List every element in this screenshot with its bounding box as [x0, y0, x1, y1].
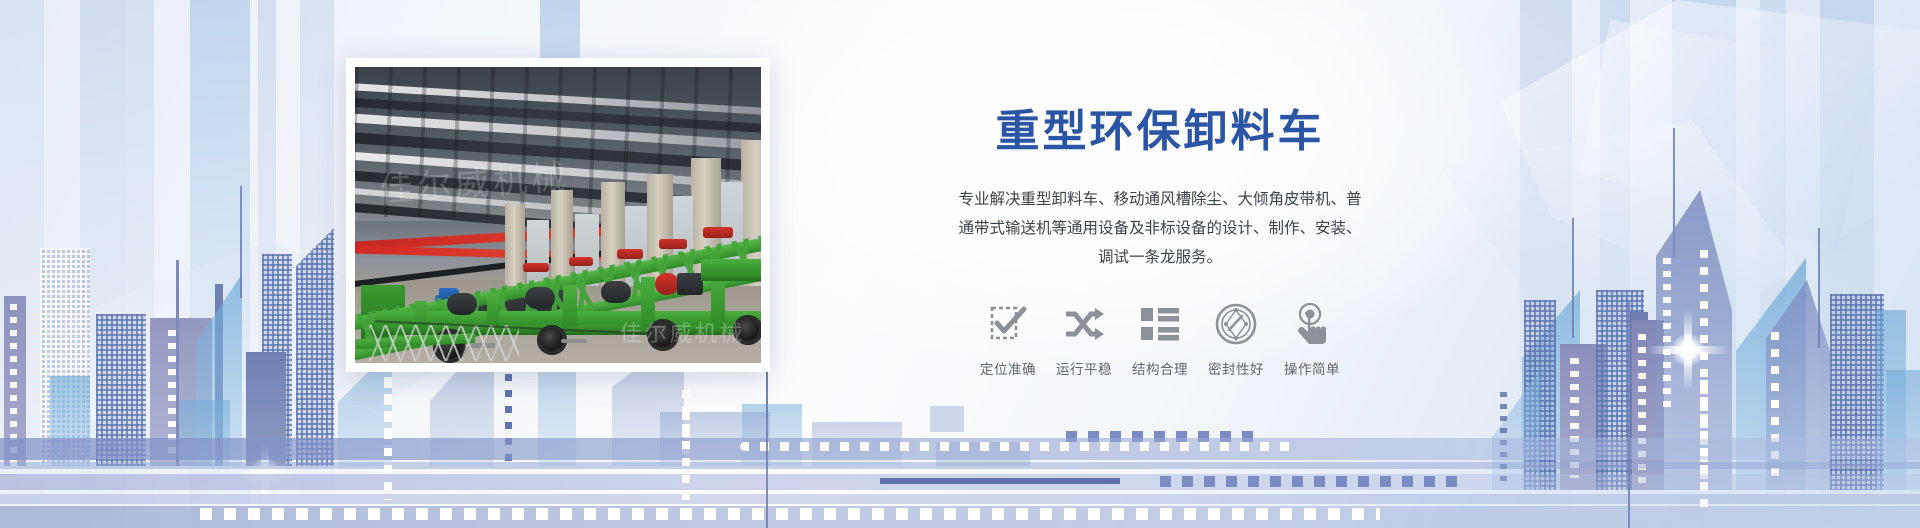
feature-label: 结构合理 [1132, 358, 1188, 378]
bg-band [1820, 0, 1874, 528]
bg-building [1630, 312, 1648, 490]
machine-leg [563, 285, 577, 327]
bg-building [742, 404, 802, 466]
description-line: 专业解决重型卸料车、移动通风槽除尘、大倾角皮带机、普 [954, 186, 1366, 215]
machine-motor [655, 273, 679, 295]
feature-label: 运行平稳 [1056, 358, 1112, 378]
photo-hoist [569, 257, 593, 266]
photo-watermark-secondary: 佳尔威机械 [620, 316, 745, 348]
bg-building [1524, 300, 1556, 490]
bg-flare-core [248, 458, 282, 492]
bg-antenna [1572, 218, 1574, 338]
bg-window-dots [682, 412, 690, 464]
hero-description: 专业解决重型卸料车、移动通风槽除尘、大倾角皮带机、普 通带式输送机等通用设备及非… [954, 186, 1366, 272]
bg-antenna [1673, 128, 1675, 258]
bg-building-windows [1500, 392, 1507, 488]
bg-band [258, 0, 276, 528]
bg-window-dots [682, 390, 690, 508]
bg-building [1596, 290, 1644, 490]
bg-building [1560, 344, 1606, 490]
hand-touch-icon [1286, 298, 1338, 350]
product-photo: 佳尔威机械 佳尔威机械 [355, 67, 761, 363]
feature-item-smooth-operation[interactable]: 运行平稳 [1046, 298, 1122, 378]
bg-building [1886, 370, 1920, 490]
bg-building [1522, 290, 1580, 490]
bg-window-dots [1700, 380, 1708, 510]
bg-building [1766, 280, 1830, 490]
bg-building-windows [1663, 258, 1671, 408]
bg-building [296, 228, 334, 466]
bg-building [176, 260, 179, 466]
feature-label: 定位准确 [980, 358, 1036, 378]
bg-building [215, 284, 223, 466]
bg-building [150, 318, 212, 466]
bg-window-dots [1700, 250, 1708, 490]
machine-roller [447, 293, 477, 315]
product-photo-frame: 佳尔威机械 佳尔威机械 [346, 58, 770, 372]
bg-building [1830, 294, 1884, 490]
bg-band [1520, 0, 1572, 528]
bg-band [300, 0, 334, 528]
bg-building [1656, 190, 1732, 490]
bg-building [40, 248, 90, 466]
bg-band [1600, 0, 1630, 528]
photo-hoist [659, 239, 687, 249]
bg-building [1876, 310, 1906, 490]
description-line: 通带式输送机等通用设备及非标设备的设计、制作、安装、 [954, 215, 1366, 244]
bg-flare-core [1671, 333, 1705, 367]
bg-building [262, 254, 292, 466]
feature-item-positioning[interactable]: 定位准确 [970, 298, 1046, 378]
feature-label: 操作简单 [1284, 358, 1340, 378]
feature-item-structure[interactable]: 结构合理 [1122, 298, 1198, 378]
bg-building [96, 314, 146, 466]
machine-roller [601, 281, 631, 303]
bg-band [126, 0, 154, 528]
photo-scaffolding [369, 325, 519, 361]
photo-pillar [505, 204, 525, 286]
bg-lens-flare [1628, 290, 1748, 410]
machine-axle [561, 339, 587, 343]
hero-content: 重型环保卸料车 专业解决重型卸料车、移动通风槽除尘、大倾角皮带机、普 通带式输送… [820, 0, 1500, 528]
bg-antenna [1818, 228, 1820, 348]
bg-facet [1580, 20, 1880, 250]
machine-deck-edge [701, 273, 761, 281]
bg-building [50, 376, 90, 466]
photo-pillar [551, 190, 573, 286]
feature-item-sealing[interactable]: 密封性好 [1198, 298, 1274, 378]
photo-hoist [617, 249, 643, 259]
bg-window-dots [1771, 332, 1779, 484]
bg-band [80, 0, 126, 528]
bg-building [196, 274, 242, 466]
bg-band [1760, 0, 1786, 528]
bg-building [660, 412, 770, 466]
photo-hoist [523, 263, 549, 272]
gauge-circle-icon [1210, 298, 1262, 350]
bg-band [190, 0, 250, 528]
grid-list-icon [1134, 298, 1186, 350]
photo-wall-panel [527, 220, 549, 286]
bg-band [0, 0, 44, 528]
bg-building [1736, 258, 1806, 490]
bg-building [246, 352, 286, 466]
bg-building [4, 296, 26, 466]
bg-building-windows [10, 304, 17, 466]
bg-lens-flare [220, 430, 310, 520]
shuffle-arrows-icon [1058, 298, 1110, 350]
machine-roller [525, 287, 555, 309]
feature-label: 密封性好 [1208, 358, 1264, 378]
bg-antenna [240, 186, 242, 298]
hero-banner: 佳尔威机械 佳尔威机械 重型环保卸料车 专业解决重型卸料车、移动通风槽除尘、大倾… [0, 0, 1920, 528]
description-line: 调试一条龙服务。 [954, 244, 1366, 273]
bg-facet [1500, 0, 1920, 300]
feature-list: 定位准确 运行平稳 [970, 298, 1350, 378]
machine-leg [487, 293, 499, 327]
bg-building-windows [168, 330, 177, 458]
bg-building [1632, 320, 1664, 490]
bg-building-windows [1570, 358, 1579, 478]
checkbox-check-icon [982, 298, 1034, 350]
photo-hoist [703, 227, 733, 238]
bg-building-windows [1638, 334, 1646, 484]
bg-vertical-line [1628, 300, 1630, 528]
bg-window-dots [384, 380, 392, 500]
bg-building [180, 400, 230, 466]
machine-gearbox [677, 273, 703, 295]
bg-band [1672, 0, 1736, 528]
page-title: 重型环保卸料车 [996, 108, 1325, 156]
feature-item-simple-operation[interactable]: 操作简单 [1274, 298, 1350, 378]
